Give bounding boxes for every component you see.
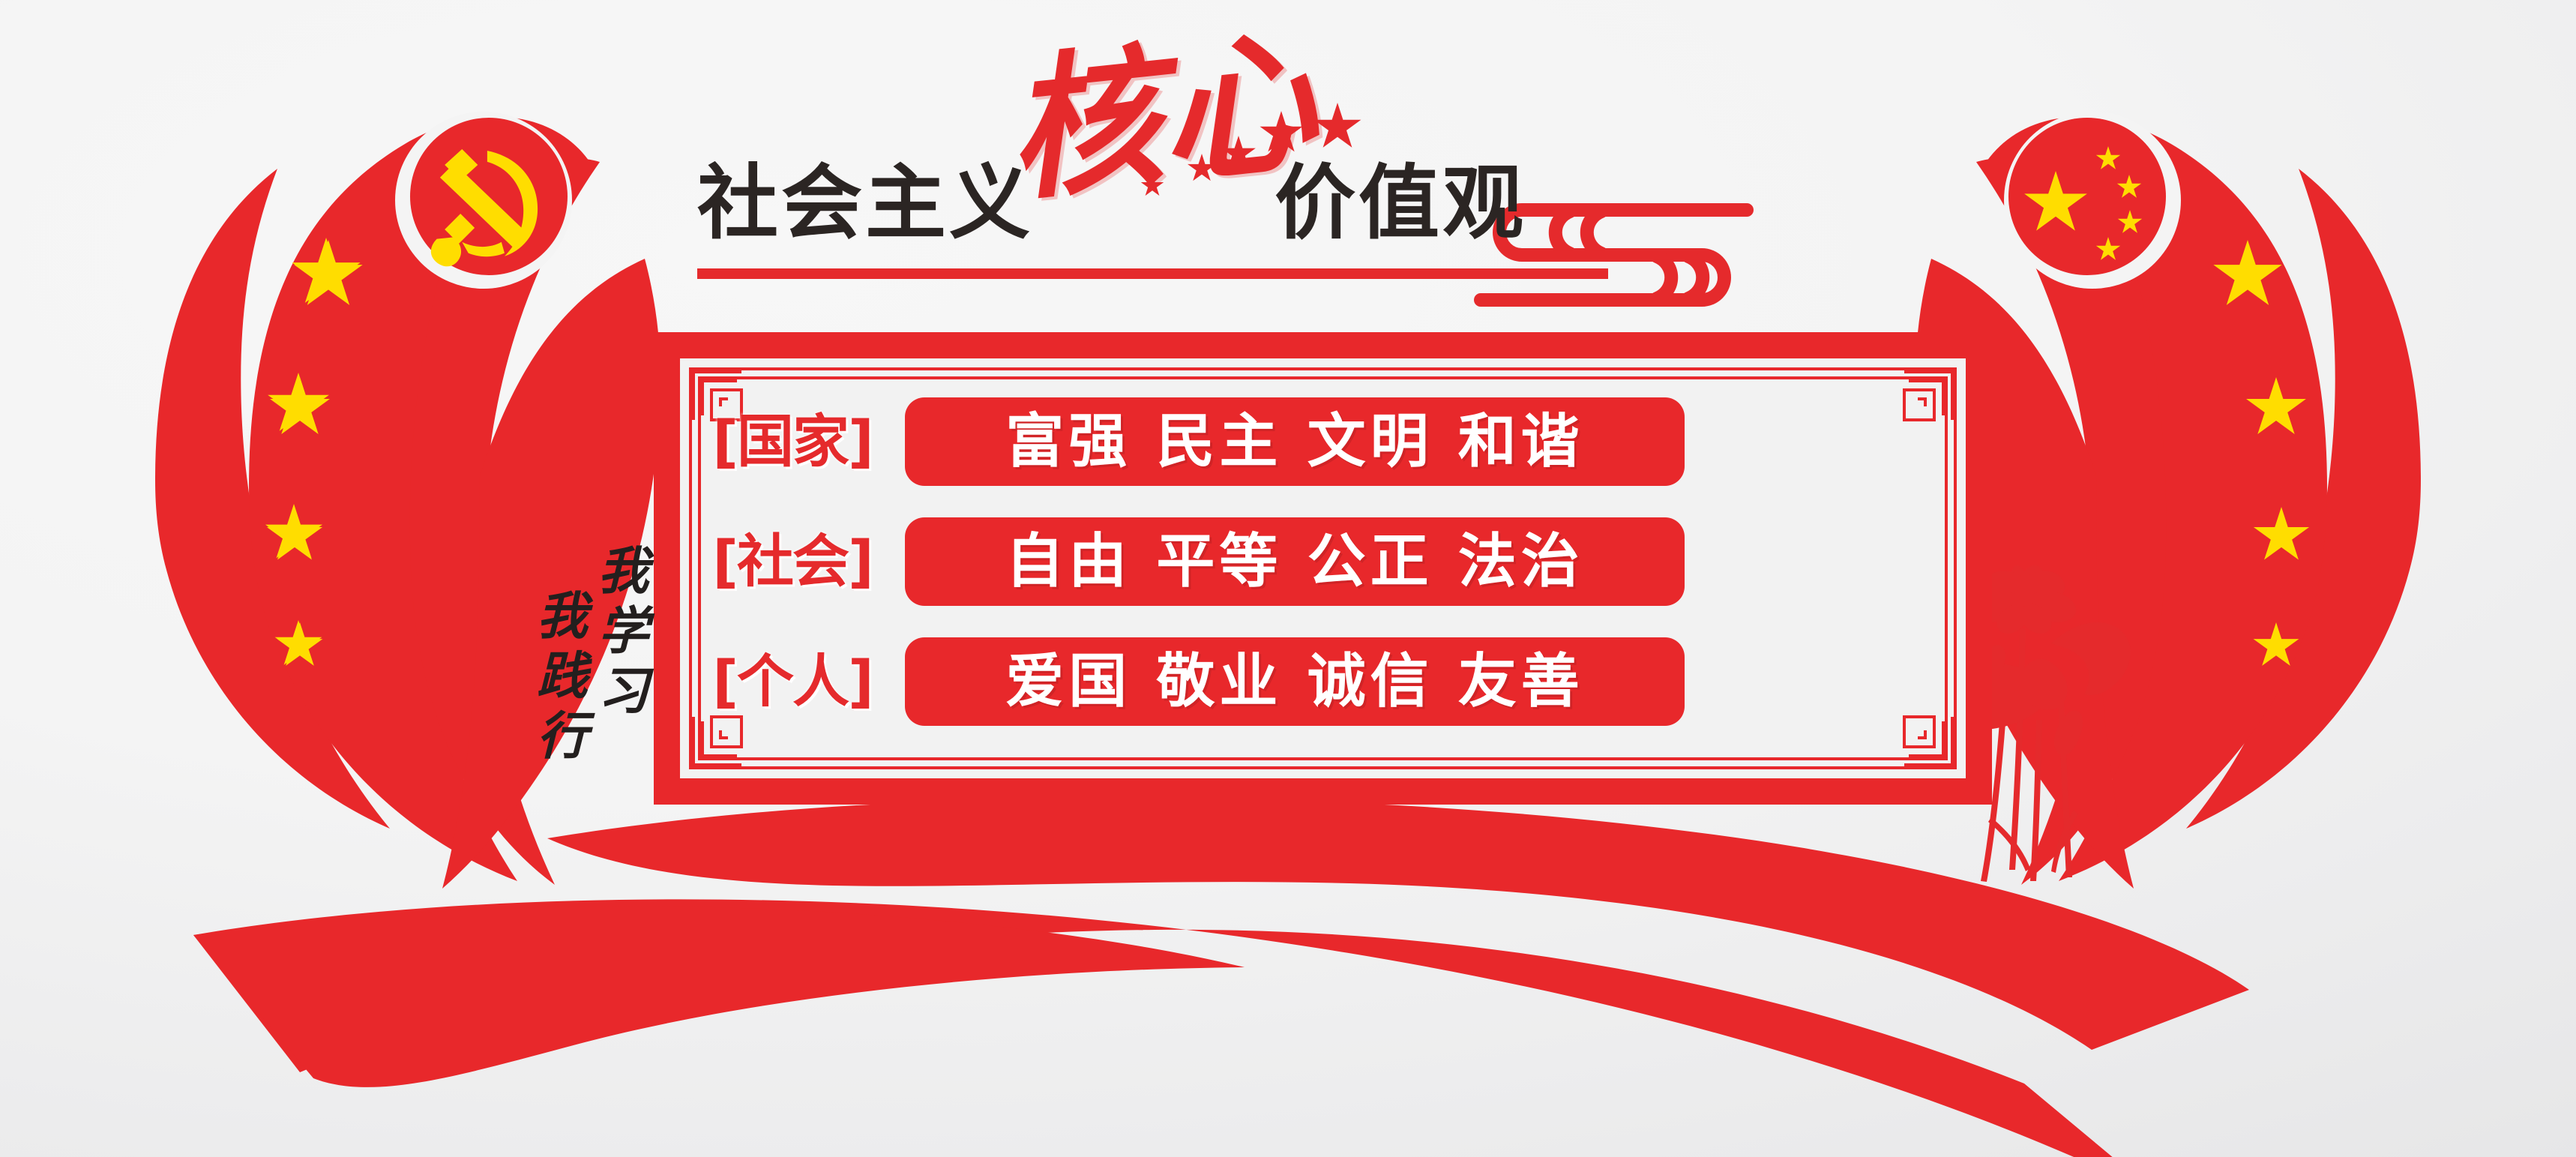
culture-wall-board: 社会主义 价值观 核心 — [0, 0, 2576, 1157]
calligraphy-block: 我学习 我践行 — [465, 544, 645, 844]
value-row-label: [国家] — [680, 413, 905, 470]
bottom-sweep-group — [193, 798, 2257, 1157]
values-panel-inner: [国家] 富强 民主 文明 和谐 [社会] 自由 平等 公正 法治 [个人] 爱… — [680, 358, 1966, 778]
value-row-label: [个人] — [680, 653, 905, 710]
value-row-pill: 爱国 敬业 诚信 友善 — [905, 637, 1685, 726]
value-row-text: 爱国 敬业 诚信 友善 — [1005, 652, 1583, 711]
value-row-text: 自由 平等 公正 法治 — [1005, 532, 1583, 591]
value-row: [个人] 爱国 敬业 诚信 友善 — [680, 637, 1966, 726]
title-stars-icon — [1141, 103, 1361, 196]
value-row: [社会] 自由 平等 公正 法治 — [680, 517, 1966, 606]
value-row: [国家] 富强 民主 文明 和谐 — [680, 397, 1966, 486]
china-flag-icon — [2004, 112, 2181, 289]
value-row-text: 富强 民主 文明 和谐 — [1005, 412, 1583, 471]
party-emblem-icon — [395, 112, 572, 289]
scroll-ornament-icon — [1481, 210, 1747, 300]
value-row-label: [社会] — [680, 533, 905, 590]
bottom-sweep-small — [193, 907, 1245, 1087]
title-ornaments — [1141, 103, 1747, 300]
calligraphy-column: 我学习 — [592, 544, 645, 844]
values-panel: [国家] 富强 民主 文明 和谐 [社会] 自由 平等 公正 法治 [个人] 爱… — [654, 332, 1992, 805]
value-row-pill: 富强 民主 文明 和谐 — [905, 397, 1685, 486]
value-row-pill: 自由 平等 公正 法治 — [905, 517, 1685, 606]
calligraphy-column: 我践行 — [530, 589, 583, 844]
